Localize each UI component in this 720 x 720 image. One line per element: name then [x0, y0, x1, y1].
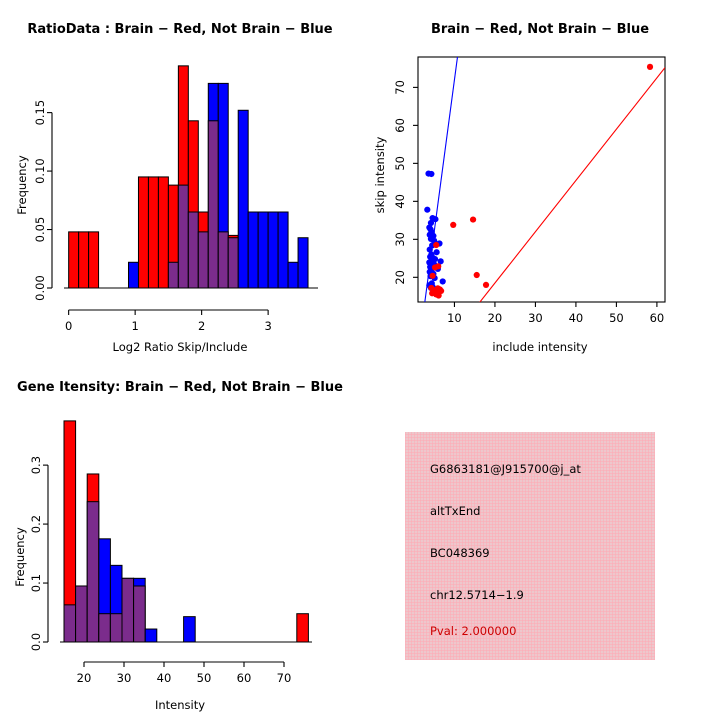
ratio-histogram-y-axis-label: Frequency — [15, 135, 29, 235]
ratio-histogram-y-tick-label: 0.15 — [33, 100, 47, 126]
ratio-histogram-title: RatioData : Brain − Red, Not Brain − Blu… — [0, 22, 360, 37]
histogram-bar — [158, 177, 168, 288]
scatter-point — [438, 288, 444, 294]
ratio-histogram-canvas: 01230.000.050.100.15 — [0, 0, 360, 360]
gene-annotation-box: G6863181@J915700@j_at altTxEnd BC048369 … — [405, 432, 655, 660]
histogram-bar — [138, 177, 148, 288]
histogram-bar-overlap — [208, 121, 218, 288]
scatter-y-tick-label: 30 — [393, 232, 407, 247]
scatter-x-tick-label: 10 — [447, 311, 462, 325]
scatter-y-tick-label: 40 — [393, 194, 407, 209]
scatter-point — [474, 272, 480, 278]
ratio-histogram-panel: RatioData : Brain − Red, Not Brain − Blu… — [0, 0, 360, 360]
histogram-bar — [145, 629, 157, 642]
ratio-histogram-y-tick-label: 0.05 — [33, 217, 47, 243]
histogram-bar-overlap — [87, 502, 99, 642]
scatter-point — [450, 222, 456, 228]
scatter-series-points — [428, 64, 653, 299]
scatter-x-tick-label: 40 — [569, 311, 584, 325]
histogram-bar-overlap — [178, 185, 188, 288]
scatter-point — [440, 278, 446, 284]
scatter-point — [432, 264, 438, 270]
annotation-pvalue: Pval: 2.000000 — [430, 624, 516, 638]
ratio-histogram-y-tick-label: 0.00 — [33, 275, 47, 301]
histogram-bar-overlap — [110, 614, 122, 642]
scatter-x-tick-label: 50 — [609, 311, 624, 325]
gene-intensity-y-tick-label: 0.0 — [29, 633, 43, 651]
scatter-point — [429, 273, 435, 279]
histogram-bar — [298, 238, 308, 288]
histogram-bar-overlap — [134, 586, 146, 642]
histogram-bar-overlap — [228, 238, 238, 288]
annotation-event-type: altTxEnd — [430, 504, 480, 518]
scatter-point — [647, 64, 653, 70]
histogram-bar-overlap — [218, 232, 228, 288]
plot-panel-root: RatioData : Brain − Red, Not Brain − Blu… — [0, 0, 720, 720]
histogram-bar — [128, 262, 138, 288]
ratio-histogram-x-tick-label: 2 — [198, 319, 205, 333]
ratio-histogram-x-axis-label: Log2 Ratio Skip/Include — [0, 340, 360, 354]
scatter-reference-line-blue-line — [418, 0, 665, 353]
histogram-bar — [288, 262, 298, 288]
ratio-histogram-x-tick-label: 0 — [65, 319, 72, 333]
gene-intensity-x-axis-label: Intensity — [0, 698, 360, 712]
gene-intensity-panel: Gene Itensity: Brain − Red, Not Brain − … — [0, 360, 360, 720]
annotation-probe-id: G6863181@J915700@j_at — [430, 462, 581, 476]
scatter-x-axis-label: include intensity — [360, 340, 720, 354]
histogram-bar — [278, 212, 288, 288]
intensity-scatter-panel: Brain − Red, Not Brain − Blue 1020304050… — [360, 0, 720, 360]
scatter-plot-area — [418, 0, 665, 360]
gene-intensity-bars — [64, 421, 308, 642]
scatter-y-tick-label: 20 — [393, 270, 407, 285]
scatter-x-tick-label: 20 — [488, 311, 503, 325]
ratio-histogram-bars — [69, 66, 308, 288]
histogram-bar-overlap — [188, 212, 198, 288]
scatter-point — [433, 242, 439, 248]
scatter-x-tick-label: 60 — [650, 311, 665, 325]
intensity-scatter-canvas: 102030405060203040506070 — [360, 0, 720, 360]
histogram-bar-overlap — [168, 262, 178, 288]
intensity-scatter-title: Brain − Red, Not Brain − Blue — [360, 22, 720, 37]
scatter-y-tick-label: 50 — [393, 156, 407, 171]
histogram-bar — [248, 212, 258, 288]
gene-intensity-title: Gene Itensity: Brain − Red, Not Brain − … — [0, 380, 360, 395]
scatter-plot-frame — [418, 57, 665, 302]
gene-intensity-x-tick-label: 70 — [277, 671, 292, 685]
histogram-bar — [69, 232, 79, 288]
ratio-histogram-x-tick-label: 1 — [131, 319, 138, 333]
histogram-bar — [238, 110, 248, 288]
scatter-y-axis-label: skip intensity — [373, 125, 387, 225]
scatter-y-tick-label: 60 — [393, 118, 407, 133]
ratio-histogram-x-tick-label: 3 — [264, 319, 271, 333]
gene-intensity-x-tick-label: 30 — [117, 671, 132, 685]
histogram-bar-overlap — [198, 232, 208, 288]
gene-intensity-x-tick-label: 50 — [197, 671, 212, 685]
gene-intensity-x-tick-label: 20 — [77, 671, 92, 685]
gene-intensity-canvas: 2030405060700.00.10.20.3 — [0, 360, 360, 720]
histogram-bar — [148, 177, 158, 288]
histogram-bar-overlap — [76, 586, 88, 642]
scatter-point — [428, 171, 434, 177]
histogram-bar-overlap — [99, 614, 111, 642]
gene-intensity-y-tick-label: 0.1 — [29, 574, 43, 592]
histogram-bar — [89, 232, 99, 288]
histogram-bar-overlap — [64, 605, 76, 642]
scatter-point — [470, 216, 476, 222]
histogram-bar — [258, 212, 268, 288]
histogram-bar — [79, 232, 89, 288]
gene-intensity-y-axis-label: Frequency — [13, 507, 27, 607]
scatter-point — [483, 282, 489, 288]
annotation-locus: chr12.5714−1.9 — [430, 588, 524, 602]
annotation-accession: BC048369 — [430, 546, 490, 560]
scatter-x-tick-label: 30 — [528, 311, 543, 325]
scatter-y-tick-label: 70 — [393, 80, 407, 95]
histogram-bar — [297, 614, 309, 642]
gene-intensity-y-tick-label: 0.2 — [29, 515, 43, 533]
histogram-bar — [268, 212, 278, 288]
scatter-point — [424, 207, 430, 213]
scatter-point — [429, 290, 435, 296]
ratio-histogram-y-tick-label: 0.10 — [33, 158, 47, 184]
gene-intensity-x-tick-label: 40 — [157, 671, 172, 685]
annotation-panel: G6863181@J915700@j_at altTxEnd BC048369 … — [360, 360, 720, 720]
histogram-bar — [184, 617, 196, 642]
gene-intensity-x-tick-label: 60 — [237, 671, 252, 685]
histogram-bar-overlap — [122, 578, 134, 642]
gene-intensity-y-tick-label: 0.3 — [29, 456, 43, 474]
